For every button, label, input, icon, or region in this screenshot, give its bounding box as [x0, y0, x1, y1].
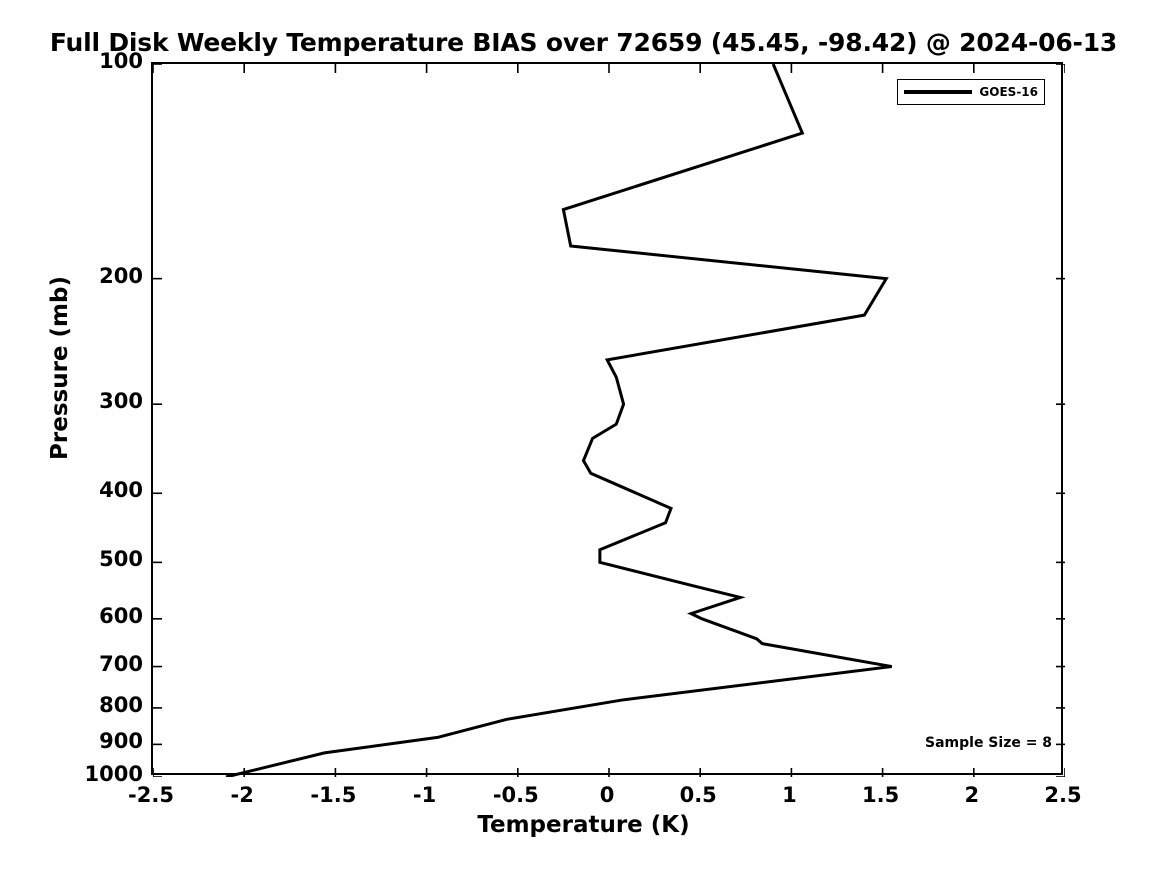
data-line-goes-16	[226, 64, 892, 777]
legend-line-swatch-goes-16	[904, 90, 972, 94]
data-series-group	[226, 64, 892, 777]
chart-root: Full Disk Weekly Temperature BIAS over 7…	[0, 0, 1167, 875]
plot-area	[151, 62, 1063, 775]
x-tick-label-2p5: 2.5	[1003, 783, 1123, 807]
y-tick-label-900: 900	[33, 729, 143, 753]
y-tick-label-100: 100	[33, 49, 143, 73]
y-tick-label-600: 600	[33, 604, 143, 628]
y-tick-label-400: 400	[33, 478, 143, 502]
y-tick-label-300: 300	[33, 389, 143, 413]
y-tick-label-700: 700	[33, 652, 143, 676]
y-tick-label-500: 500	[33, 547, 143, 571]
axis-ticks	[153, 64, 1065, 777]
legend-label-goes-16: GOES-16	[979, 85, 1038, 99]
legend[interactable]: GOES-16	[897, 79, 1045, 105]
page-title: Full Disk Weekly Temperature BIAS over 7…	[0, 28, 1167, 57]
sample-size-annotation: Sample Size = 8	[925, 735, 1052, 751]
y-tick-label-200: 200	[33, 264, 143, 288]
x-axis-label: Temperature (K)	[0, 812, 1167, 838]
data-plot-svg	[153, 64, 1065, 777]
y-tick-label-800: 800	[33, 693, 143, 717]
